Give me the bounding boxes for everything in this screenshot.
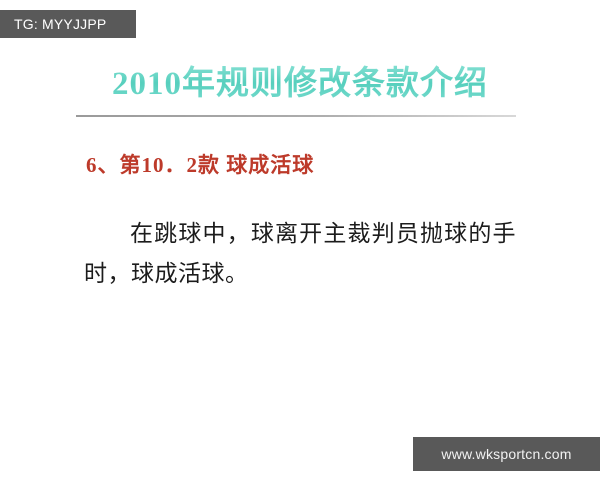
presentation-slide: TG: MYYJJPP 2010年规则修改条款介绍 6、第10．2款 球成活球 …: [0, 0, 600, 480]
title-divider: [76, 115, 516, 117]
source-tag-badge: TG: MYYJJPP: [0, 10, 136, 38]
title-block: 2010年规则修改条款介绍: [76, 60, 524, 117]
body-paragraph: 在跳球中，球离开主裁判员抛球的手时，球成活球。: [84, 214, 516, 294]
section-heading: 6、第10．2款 球成活球: [86, 150, 314, 180]
site-watermark: www.wksportcn.com: [413, 437, 600, 471]
page-title: 2010年规则修改条款介绍: [76, 60, 524, 108]
